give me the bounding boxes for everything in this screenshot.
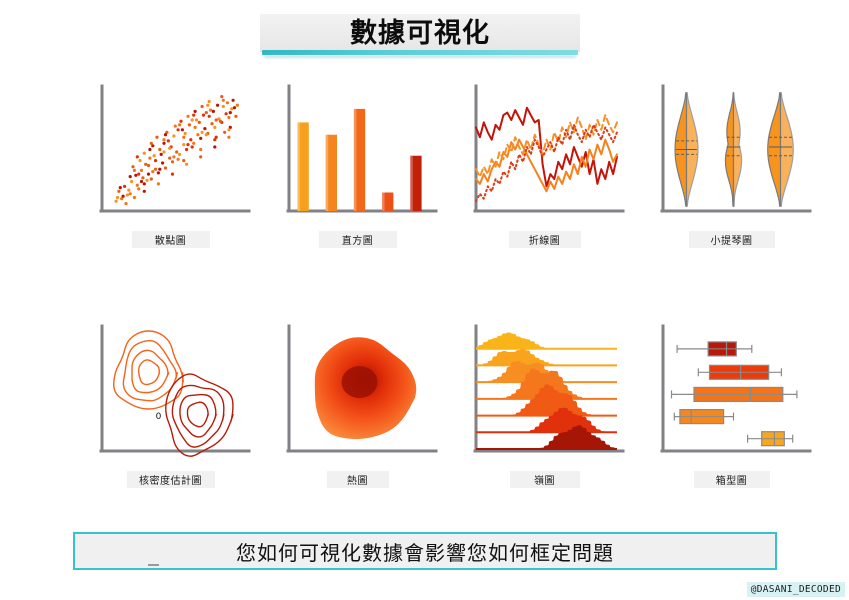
scatter-point bbox=[171, 160, 174, 163]
scatter-point bbox=[208, 100, 211, 103]
scatter-point bbox=[177, 128, 180, 131]
scatter-point bbox=[153, 154, 156, 157]
scatter-point bbox=[172, 155, 175, 158]
scatter-point bbox=[160, 153, 163, 156]
scatter-point bbox=[150, 177, 153, 180]
scatter-point bbox=[222, 99, 225, 102]
scatter-point bbox=[136, 155, 139, 158]
scatter-point bbox=[115, 200, 118, 203]
chart-violin bbox=[649, 82, 814, 227]
scatter-point bbox=[172, 134, 175, 137]
chart-cell-violin bbox=[649, 82, 814, 237]
scatter-point bbox=[162, 142, 165, 145]
chart-cell-ridgeline bbox=[462, 322, 627, 477]
scatter-point bbox=[148, 157, 151, 160]
scatter-point bbox=[199, 137, 202, 140]
violin-left-half bbox=[768, 93, 781, 206]
scatter-point bbox=[196, 133, 199, 136]
chart-cell-histogram bbox=[275, 82, 440, 237]
scatter-point bbox=[162, 138, 165, 141]
scatter-point bbox=[141, 176, 144, 179]
scatter-point bbox=[185, 163, 188, 166]
scatter-point bbox=[146, 179, 149, 182]
scatter-point bbox=[174, 125, 177, 128]
scatter-point bbox=[182, 159, 185, 162]
heatmap-blob bbox=[315, 337, 419, 439]
scatter-point bbox=[191, 145, 194, 148]
line-series bbox=[476, 108, 617, 202]
scatter-point bbox=[181, 128, 184, 131]
scatter-point bbox=[157, 171, 160, 174]
scatter-point bbox=[139, 159, 142, 162]
scatter-point bbox=[192, 114, 195, 117]
chart-axes bbox=[475, 86, 623, 211]
chart-boxplot bbox=[649, 322, 814, 467]
bottom-banner-text: 您如何可視化數據會影響您如何框定問題 bbox=[236, 537, 614, 566]
scatter-point bbox=[186, 115, 189, 118]
scatter-point bbox=[117, 190, 120, 193]
title-banner: 數據可視化 bbox=[260, 14, 580, 52]
kde-contour-line bbox=[114, 331, 184, 409]
scatter-point bbox=[147, 164, 150, 167]
scatter-point bbox=[143, 190, 146, 193]
scatter-point bbox=[236, 104, 239, 107]
kde-contour-line bbox=[132, 350, 169, 392]
scatter-point bbox=[203, 127, 206, 130]
line-path bbox=[476, 115, 617, 177]
scatter-point bbox=[129, 175, 132, 178]
violin-right-half bbox=[781, 93, 794, 206]
scatter-point bbox=[234, 115, 237, 118]
scatter-point bbox=[148, 148, 151, 151]
kde-contour-line bbox=[187, 402, 208, 427]
watermark: @DASANI_DECODED bbox=[747, 582, 845, 597]
chart-label-violin: 小提琴圖 bbox=[689, 231, 775, 248]
scatter-point bbox=[140, 169, 143, 172]
scatter-point bbox=[178, 123, 181, 126]
scatter-point bbox=[213, 138, 216, 141]
scatter-point bbox=[168, 147, 171, 150]
scatter-point bbox=[182, 136, 185, 139]
heatmap-core bbox=[342, 366, 378, 398]
scatter-point bbox=[136, 184, 139, 187]
scatter-point bbox=[122, 195, 125, 198]
scatter-point bbox=[158, 148, 161, 151]
scatter-point bbox=[213, 145, 216, 148]
scatter-point bbox=[133, 196, 136, 199]
scatter-point bbox=[209, 109, 212, 112]
bottom-banner: 您如何可視化數據會影響您如何框定問題 bbox=[73, 532, 777, 570]
scatter-point bbox=[230, 107, 233, 110]
scatter-point bbox=[205, 111, 208, 114]
scatter-point bbox=[201, 131, 204, 134]
chart-scatter bbox=[88, 82, 253, 227]
scatter-point bbox=[225, 112, 228, 115]
scatter-point bbox=[227, 116, 230, 119]
scatter-point bbox=[201, 105, 204, 108]
scatter-point bbox=[184, 132, 187, 135]
scatter-point bbox=[216, 104, 219, 107]
scatter-point bbox=[186, 143, 189, 146]
scatter-point bbox=[179, 120, 182, 123]
page-title: 數據可視化 bbox=[350, 20, 490, 47]
scatter-point bbox=[158, 168, 161, 171]
violin-left-half bbox=[725, 93, 733, 206]
scatter-point bbox=[151, 170, 154, 173]
scatter-point bbox=[137, 173, 140, 176]
scatter-point bbox=[185, 148, 188, 151]
scatter-point bbox=[210, 122, 213, 125]
kde-annotation: 0 bbox=[156, 412, 162, 422]
chart-cell-heatmap bbox=[275, 322, 440, 477]
scatter-point bbox=[219, 120, 222, 123]
scatter-point bbox=[164, 133, 167, 136]
scatter-point bbox=[191, 118, 194, 121]
scatter-point bbox=[123, 185, 126, 188]
scatter-point bbox=[212, 110, 215, 113]
box-series bbox=[672, 342, 797, 446]
scatter-point bbox=[155, 136, 158, 139]
scatter-point bbox=[154, 168, 157, 171]
scatter-point bbox=[205, 133, 208, 136]
chart-histogram bbox=[275, 82, 440, 227]
scatter-point bbox=[140, 180, 143, 183]
scatter-point bbox=[202, 114, 205, 117]
chart-ridgeline bbox=[462, 322, 627, 467]
bar-series bbox=[298, 109, 422, 211]
scatter-point bbox=[220, 95, 223, 98]
chart-heatmap bbox=[275, 322, 440, 467]
chart-label-line: 折線圖 bbox=[509, 231, 581, 248]
scatter-point bbox=[206, 104, 209, 107]
scatter-point bbox=[162, 150, 165, 153]
scatter-point bbox=[130, 180, 133, 183]
scatter-point bbox=[229, 111, 232, 114]
scatter-point bbox=[227, 136, 230, 139]
scatter-point bbox=[182, 143, 185, 146]
chart-label-ridgeline: 嶺圖 bbox=[510, 471, 580, 488]
chart-cell-line bbox=[462, 82, 627, 237]
scatter-point bbox=[189, 138, 192, 141]
scatter-point bbox=[178, 153, 181, 156]
scatter-point bbox=[143, 182, 146, 185]
chart-label-histogram: 直方圖 bbox=[319, 231, 397, 248]
chart-cell-kde: 0 bbox=[88, 322, 253, 477]
scatter-point bbox=[161, 161, 164, 164]
scatter-point bbox=[195, 118, 198, 121]
scatter-point bbox=[222, 105, 225, 108]
scatter-point bbox=[116, 196, 119, 199]
violin-series bbox=[675, 93, 793, 206]
scatter-point bbox=[199, 155, 202, 158]
scatter-point bbox=[233, 106, 236, 109]
scatter-point bbox=[177, 158, 180, 161]
chart-label-scatter: 散點圖 bbox=[132, 231, 210, 248]
scatter-point bbox=[192, 142, 195, 145]
scatter-point bbox=[164, 166, 167, 169]
chart-axes bbox=[101, 326, 249, 451]
scatter-point bbox=[137, 187, 140, 190]
kde-contours: 0 bbox=[114, 331, 233, 456]
ridgeline-series bbox=[476, 333, 617, 450]
scatter-point bbox=[147, 173, 150, 176]
scatter-point bbox=[129, 192, 132, 195]
scatter-point bbox=[119, 186, 122, 189]
scatter-point bbox=[126, 193, 129, 196]
scatter-point bbox=[227, 128, 230, 131]
kde-contour-line bbox=[139, 360, 160, 385]
chart-cell-scatter bbox=[88, 82, 253, 237]
scatter-point bbox=[213, 126, 216, 129]
kde-contour-line bbox=[180, 395, 216, 437]
scatter-point bbox=[232, 99, 235, 102]
scatter-point bbox=[157, 182, 160, 185]
scatter-point bbox=[226, 101, 229, 104]
chart-cell-boxplot bbox=[649, 322, 814, 477]
title-accent-rule-shadow bbox=[264, 55, 576, 58]
ridge-area bbox=[476, 333, 617, 349]
violin-right-half bbox=[734, 93, 742, 206]
scatter-point bbox=[133, 169, 136, 172]
scatter-point bbox=[199, 148, 202, 151]
scatter-point bbox=[208, 115, 211, 118]
scatter-point bbox=[175, 150, 178, 153]
scatter-point bbox=[150, 142, 153, 145]
bar-highlight bbox=[382, 193, 385, 211]
scatter-point bbox=[188, 123, 191, 126]
slide-canvas: 數據可視化 散點圖直方圖折線圖小提琴圖0核密度估計圖熱圖嶺圖箱型圖 您如何可視化… bbox=[0, 0, 849, 600]
scatter-point bbox=[154, 159, 157, 162]
scatter-point bbox=[134, 174, 137, 177]
chart-axes bbox=[101, 86, 249, 211]
bar-highlight bbox=[326, 135, 329, 211]
scatter-point bbox=[194, 126, 197, 129]
scatter-point bbox=[215, 118, 218, 121]
chart-label-boxplot: 箱型圖 bbox=[694, 471, 770, 488]
chart-label-kde: 核密度估計圖 bbox=[127, 471, 215, 488]
scatter-point bbox=[168, 157, 171, 160]
bar-highlight bbox=[298, 122, 301, 211]
scatter-point bbox=[131, 165, 134, 168]
scatter-point bbox=[124, 202, 127, 205]
bar-highlight bbox=[354, 109, 357, 211]
banner-tick-mark bbox=[148, 564, 159, 566]
scatter-point bbox=[144, 163, 147, 166]
chart-label-heatmap: 熱圖 bbox=[327, 471, 389, 488]
scatter-point bbox=[198, 121, 201, 124]
chart-kde: 0 bbox=[88, 322, 253, 467]
chart-line bbox=[462, 82, 627, 227]
scatter-point bbox=[171, 173, 174, 176]
scatter-point bbox=[223, 131, 226, 134]
scatter-points bbox=[115, 95, 239, 205]
ridge-area bbox=[476, 384, 617, 415]
ridge-area bbox=[476, 349, 617, 366]
scatter-point bbox=[127, 189, 130, 192]
scatter-point bbox=[143, 152, 146, 155]
bar-highlight bbox=[410, 156, 413, 211]
scatter-point bbox=[194, 110, 197, 113]
scatter-point bbox=[167, 139, 170, 142]
